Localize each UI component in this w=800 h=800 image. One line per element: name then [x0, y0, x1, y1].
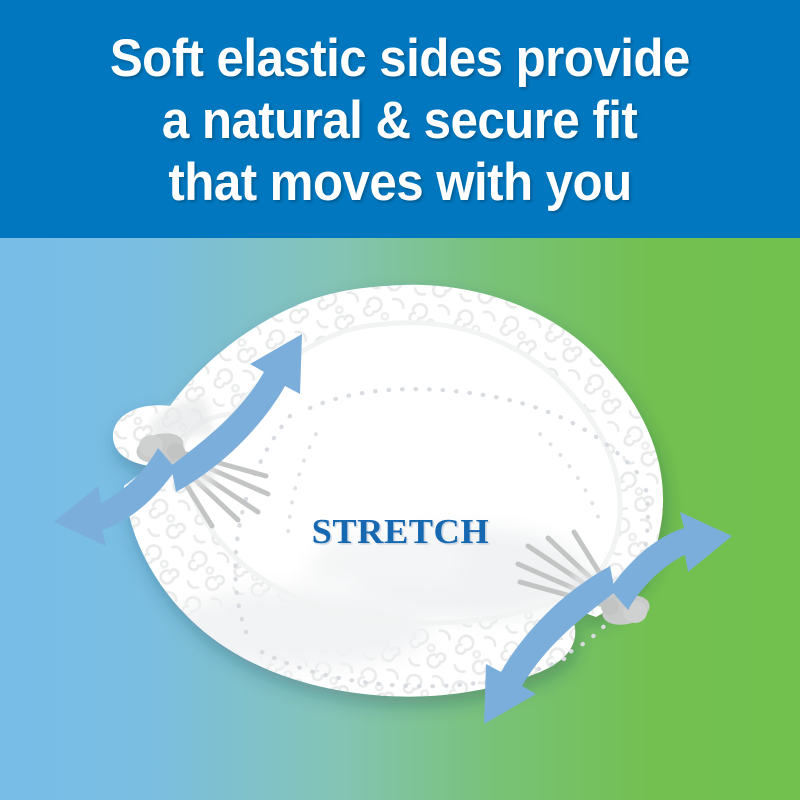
product-photo-area: Stretch [0, 238, 800, 800]
headline-line-1: Soft elastic sides provide [110, 28, 690, 90]
headline-line-2: a natural & secure fit [162, 90, 637, 152]
pad-body [113, 285, 663, 697]
headline-line-3: that moves with you [168, 152, 631, 214]
product-feature-image: Soft elastic sides provide a natural & s… [0, 0, 800, 800]
headline-banner: Soft elastic sides provide a natural & s… [0, 0, 800, 238]
absorbent-pad-illustration [0, 238, 800, 800]
